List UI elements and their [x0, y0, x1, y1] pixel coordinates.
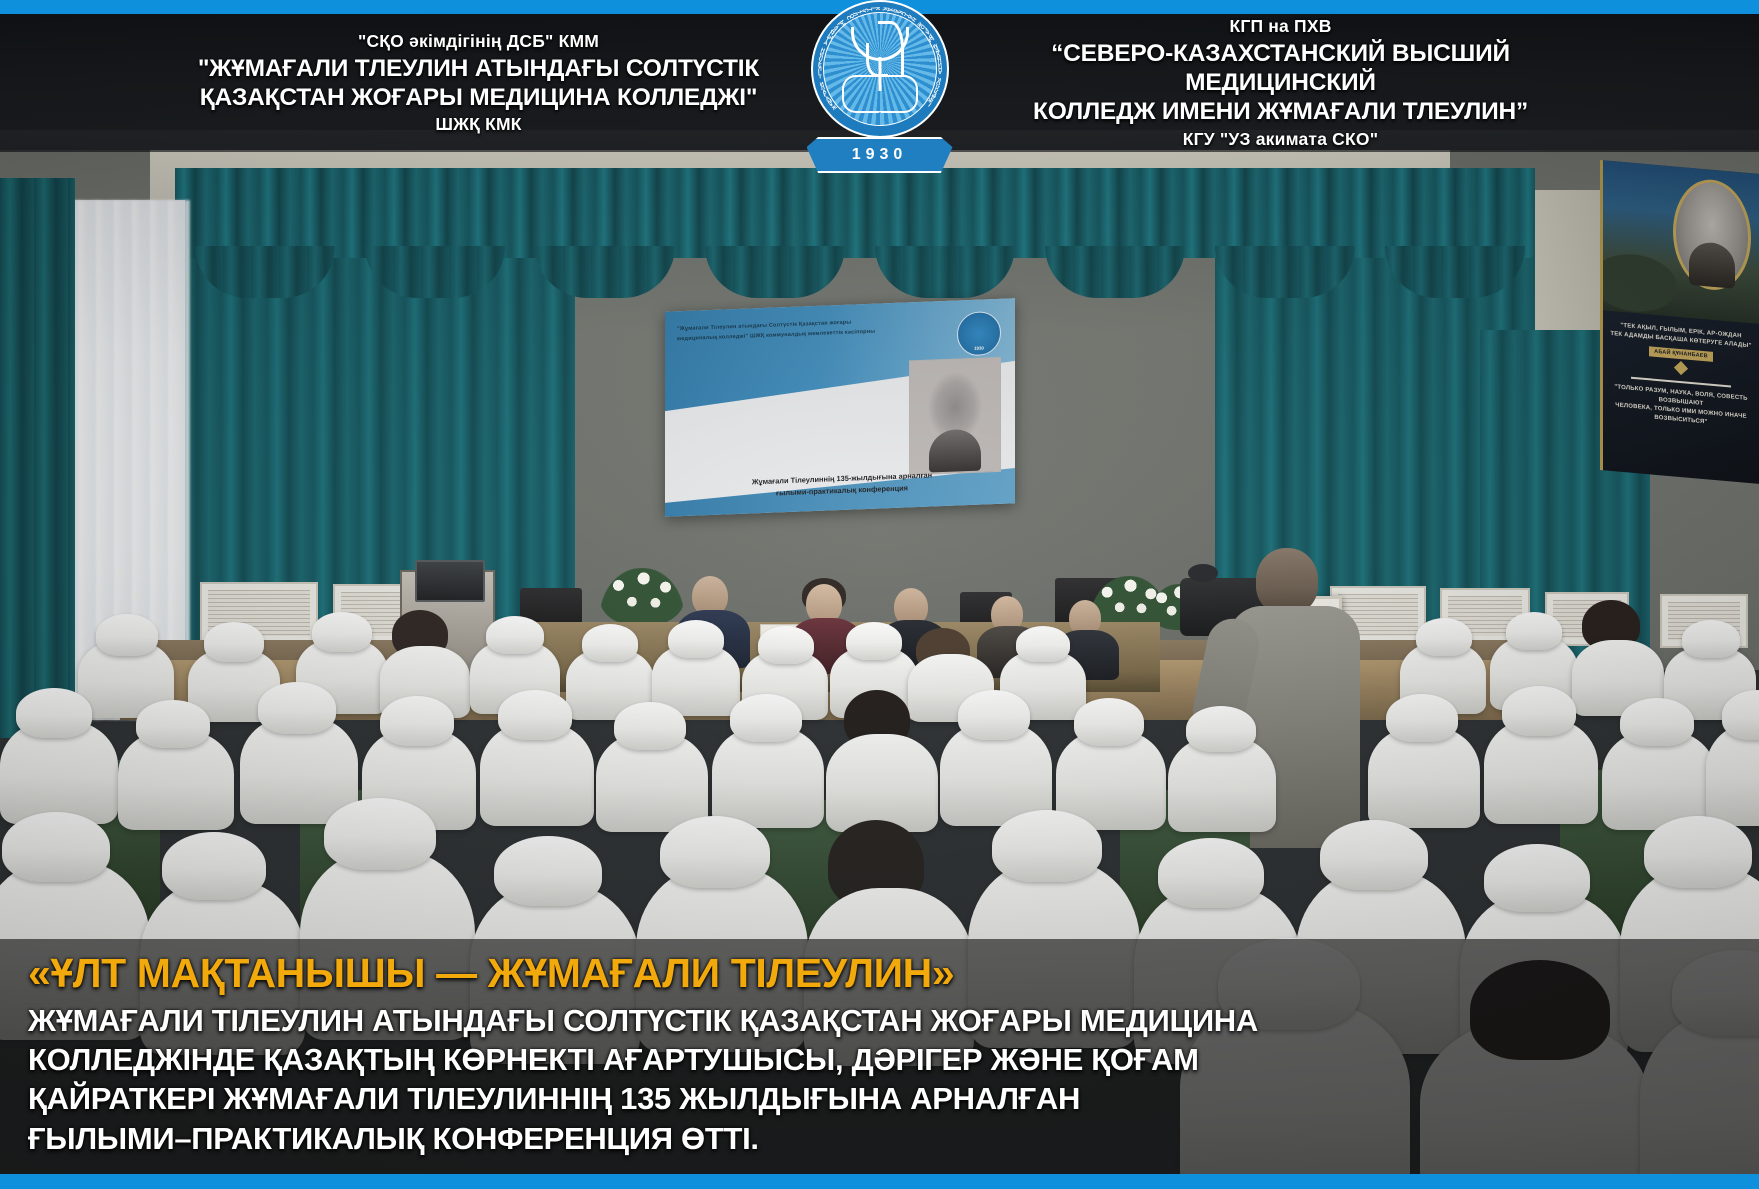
caption-title: «ҰЛТ МАҚТАНЫШЫ — ЖҰМАҒАЛИ ТІЛЕУЛИН»: [28, 951, 1731, 997]
header-right-russian: КГП на ПХВ “СЕВЕРО-КАЗАХСТАНСКИЙ ВЫСШИЙ …: [961, 16, 1601, 150]
college-logo-wrap: ЖҰМАҒАЛИ ТІЛЕУЛИН АТЫНДАҒЫ СОЛТҮСТІК ҚАЗ…: [805, 0, 955, 179]
serpent-icon: [866, 43, 888, 77]
caption-body-line: КОЛЛЕДЖІНДЕ ҚАЗАҚТЫҢ КӨРНЕКТІ АҒАРТУШЫСЫ…: [28, 1040, 1731, 1079]
projection-screen: "Жұмағали Тілеулин атындағы Солтүстік Қа…: [665, 298, 1015, 516]
banner-portrait-oval: [1673, 176, 1751, 293]
header-right-main: “СЕВЕРО-КАЗАХСТАНСКИЙ ВЫСШИЙ МЕДИЦИНСКИЙ…: [961, 40, 1601, 127]
header-right-main-line-2: КОЛЛЕДЖ ИМЕНИ ЖҰМАҒАЛИ ТЛЕУЛИН”: [961, 98, 1601, 127]
cameraman-head: [1256, 548, 1318, 614]
header-right-main-line-1: “СЕВЕРО-КАЗАХСТАНСКИЙ ВЫСШИЙ МЕДИЦИНСКИЙ: [961, 40, 1601, 98]
stage-monitor: [415, 560, 485, 602]
wall-banner-abai-quote: "ТЕК АҚЫЛ, ҒЫЛЫМ, ЕРІК, АР-ОЖДАН ТЕК АДА…: [1600, 160, 1759, 484]
caption-body-line: ЖҰМАҒАЛИ ТІЛЕУЛИН АТЫНДАҒЫ СОЛТҮСТІК ҚАЗ…: [28, 1001, 1731, 1040]
college-logo: ЖҰМАҒАЛИ ТІЛЕУЛИН АТЫНДАҒЫ СОЛТҮСТІК ҚАЗ…: [811, 9, 949, 179]
header-left-main: "ЖҰМАҒАЛИ ТЛЕУЛИН АТЫНДАҒЫ СОЛТҮСТІК ҚАЗ…: [159, 55, 799, 113]
header-left-bottom-line: ШЖҚ КМК: [159, 114, 799, 135]
header-band: "СҚО әкімдігінің ДСБ" КММ "ЖҰМАҒАЛИ ТЛЕУ…: [0, 14, 1759, 152]
slide-college-logo: [957, 311, 1001, 357]
caption-body-line: ҒЫЛЫМИ–ПРАКТИКАЛЫҚ КОНФЕРЕНЦИЯ ӨТТІ.: [28, 1119, 1731, 1158]
banner-diamond-ornament: [1674, 361, 1688, 375]
open-book-icon: [842, 75, 918, 109]
caption-body-line: ҚАЙРАТКЕРІ ЖҰМАҒАЛИ ТІЛЕУЛИННІҢ 135 ЖЫЛД…: [28, 1079, 1731, 1118]
header-right-bottom-line: КГУ "УЗ акимата СКО": [961, 129, 1601, 150]
caption-band: «ҰЛТ МАҚТАНЫШЫ — ЖҰМАҒАЛИ ТІЛЕУЛИН» ЖҰМА…: [0, 939, 1759, 1174]
banner-landscape: [1603, 160, 1759, 324]
header-left-main-line-2: ҚАЗАҚСТАН ЖОҒАРЫ МЕДИЦИНА КОЛЛЕДЖІ": [159, 84, 799, 113]
logo-year-ribbon: 1930: [807, 137, 953, 173]
header-left-main-line-1: "ЖҰМАҒАЛИ ТЛЕУЛИН АТЫНДАҒЫ СОЛТҮСТІК: [159, 55, 799, 84]
header-left-kazakh: "СҚО әкімдігінің ДСБ" КММ "ЖҰМАҒАЛИ ТЛЕУ…: [159, 31, 799, 136]
window-curtain: [0, 178, 75, 738]
banner-attribution-kk: АБАЙ ҚҰНАНБАЕВ: [1649, 346, 1713, 362]
flower-arrangement: [600, 568, 684, 626]
header-right-top-line: КГП на ПХВ: [961, 16, 1601, 37]
curtain-pelmet: [175, 168, 1535, 258]
caption-body: ЖҰМАҒАЛИ ТІЛЕУЛИН АТЫНДАҒЫ СОЛТҮСТІК ҚАЗ…: [28, 1001, 1731, 1158]
bottom-accent-bar: [0, 1174, 1759, 1189]
banner-text: "ТЕК АҚЫЛ, ҒЫЛЫМ, ЕРІК, АР-ОЖДАН ТЕК АДА…: [1609, 321, 1753, 432]
logo-year: 1930: [852, 146, 908, 164]
slide-portrait: [909, 357, 1001, 476]
logo-sunburst: [823, 12, 937, 126]
poster-root: "Жұмағали Тілеулин атындағы Солтүстік Қа…: [0, 0, 1759, 1189]
header-left-top-line: "СҚО әкімдігінің ДСБ" КММ: [159, 31, 799, 52]
